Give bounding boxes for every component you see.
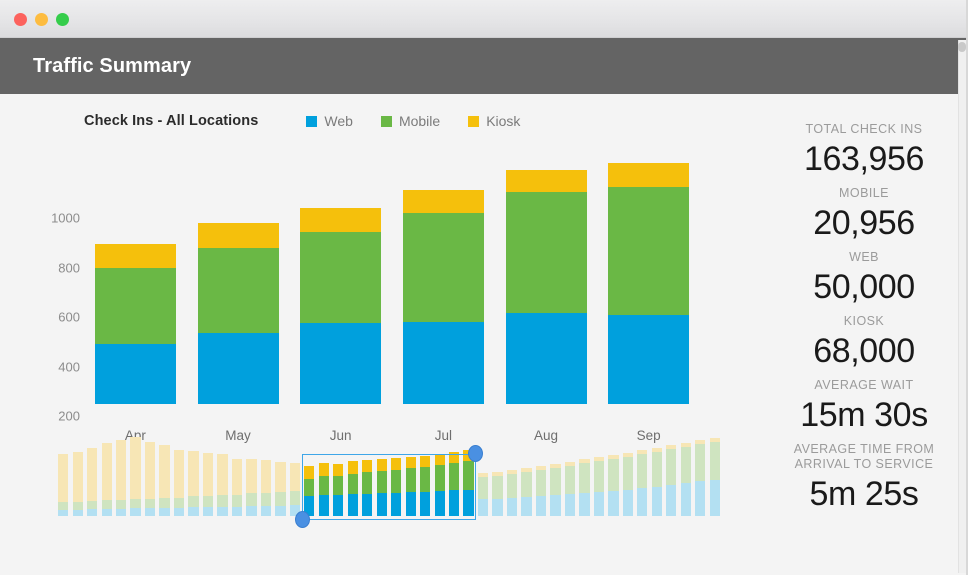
bar-segment-web[interactable] [198,333,279,404]
navigator-bar[interactable] [58,454,68,516]
y-axis: 02004006008001000 [48,156,80,466]
navigator-bar[interactable] [261,460,271,516]
navigator-segment-kiosk [391,458,401,470]
navigator-segment-web [681,483,691,516]
navigator-bar[interactable] [608,455,618,516]
y-axis-tick-label: 1000 [51,211,80,226]
stat-block: AVERAGE WAIT15m 30s [770,378,958,436]
navigator-segment-web [594,492,604,516]
navigator-segment-mobile [695,444,705,481]
stat-value: 50,000 [770,266,958,308]
navigator-segment-mobile [58,502,68,510]
navigator-segment-mobile [449,463,459,490]
navigator-segment-web [58,510,68,516]
navigator-segment-mobile [348,474,358,494]
navigator-segment-mobile [217,495,227,507]
bar-segment-mobile[interactable] [198,248,279,334]
navigator-bar[interactable] [319,463,329,516]
navigator-bar[interactable] [406,457,416,516]
navigator-segment-kiosk [304,466,314,479]
navigator-segment-web [478,499,488,516]
navigator-segment-web [550,495,560,516]
chart-legend: WebMobileKiosk [306,113,520,129]
navigator-segment-mobile [435,465,445,491]
navigator-segment-kiosk [232,459,242,495]
navigator-segment-web [217,507,227,516]
legend-swatch-web-icon [306,116,317,127]
chart-header: Check Ins - All Locations WebMobileKiosk [84,110,724,132]
navigator-segment-web [116,509,126,516]
stat-label: WEB [770,250,958,265]
navigator-segment-web [188,507,198,516]
bar-segment-mobile[interactable] [403,213,484,322]
navigator-segment-web [130,508,140,516]
navigator-segment-web [102,509,112,516]
navigator-segment-kiosk [87,448,97,501]
stat-label: KIOSK [770,314,958,329]
navigator-segment-mobile [594,461,604,492]
navigator-bar[interactable] [666,445,676,516]
navigator-segment-mobile [637,454,647,488]
navigator-segment-kiosk [159,445,169,498]
bar-segment-web[interactable] [608,315,689,404]
navigator-segment-web [377,493,387,516]
navigator-segment-kiosk [319,463,329,476]
navigator-segment-mobile [681,447,691,483]
bar-segment-kiosk[interactable] [300,208,381,232]
legend-label: Web [324,113,353,129]
navigator-segment-kiosk [449,452,459,463]
x-axis-label: Aug [495,428,598,443]
stat-value: 163,956 [770,138,958,180]
navigator-segment-web [695,481,705,516]
bar-series-container [84,156,700,404]
navigator-bar[interactable] [130,437,140,516]
stat-block: MOBILE20,956 [770,186,958,244]
navigator-segment-mobile [203,496,213,507]
minimize-button-icon[interactable] [35,13,48,26]
legend-swatch-mobile-icon [381,116,392,127]
stat-value: 15m 30s [770,394,958,436]
legend-item-kiosk[interactable]: Kiosk [468,113,520,129]
bar-segment-kiosk[interactable] [198,223,279,248]
bar-segment-web[interactable] [300,323,381,404]
navigator-segment-web [565,494,575,516]
navigator-bar[interactable] [681,443,691,516]
navigator-segment-mobile [145,499,155,508]
navigator-bar[interactable] [246,459,256,516]
stat-block: KIOSK68,000 [770,314,958,372]
navigator-segment-mobile [550,468,560,495]
navigator-bar[interactable] [492,472,502,516]
navigator-segment-kiosk [362,460,372,472]
navigator-segment-kiosk [348,461,358,474]
navigator-bar[interactable] [304,466,314,516]
y-axis-tick-label: 200 [58,409,80,424]
legend-swatch-kiosk-icon [468,116,479,127]
navigator-segment-kiosk [130,437,140,499]
chart-panel: Check Ins - All Locations WebMobileKiosk… [0,94,770,575]
navigator-bar[interactable] [710,438,720,516]
legend-label: Mobile [399,113,440,129]
navigator-segment-mobile [159,498,169,508]
bar-segment-web[interactable] [506,313,587,404]
legend-item-mobile[interactable]: Mobile [381,113,440,129]
bar-column-jul[interactable] [403,190,484,404]
navigator-segment-web [666,485,676,516]
stat-label: TOTAL CHECK INS [770,122,958,137]
navigator-segment-mobile [102,500,112,509]
x-axis-label: Jun [289,428,392,443]
navigator-bars [56,456,722,516]
navigator-segment-kiosk [377,459,387,471]
navigator-segment-kiosk [290,463,300,491]
window-controls [14,13,69,26]
navigator-segment-kiosk [73,452,83,502]
navigator-bar[interactable] [159,445,169,516]
navigator-segment-mobile [406,468,416,492]
navigator-segment-web [507,498,517,516]
navigator-bar[interactable] [362,460,372,516]
navigator-segment-mobile [710,442,720,480]
navigator-segment-web [261,506,271,516]
navigator-segment-mobile [579,463,589,493]
navigator-segment-mobile [652,452,662,487]
x-axis-label: May [187,428,290,443]
navigator-segment-mobile [261,493,271,506]
window-titlebar[interactable] [0,0,968,38]
navigator-segment-web [710,480,720,516]
dashboard-body: Check Ins - All Locations WebMobileKiosk… [0,94,968,575]
navigator-segment-web [463,490,473,516]
x-axis-label: Sep [597,428,700,443]
navigator-bar[interactable] [333,464,343,516]
navigator-bar[interactable] [435,454,445,516]
stat-value: 68,000 [770,330,958,372]
stat-label: AVERAGE TIME FROM ARRIVAL TO SERVICE [770,442,958,472]
navigator-bar[interactable] [87,448,97,516]
navigator-segment-mobile [174,498,184,508]
maximize-button-icon[interactable] [56,13,69,26]
app-window: Traffic Summary Check Ins - All Location… [0,0,968,575]
x-axis-label: Jul [392,428,495,443]
navigator-segment-web [174,508,184,516]
navigator-segment-kiosk [174,450,184,498]
navigator-bar[interactable] [232,459,242,516]
navigator-segment-mobile [319,476,329,495]
vertical-scrollbar-thumb[interactable] [958,42,966,52]
navigator-segment-mobile [565,466,575,494]
navigator-segment-kiosk [203,453,213,496]
navigator-bar[interactable] [695,440,705,516]
navigator-bar[interactable] [174,450,184,516]
navigator-bar[interactable] [420,456,430,516]
navigator-segment-web [579,493,589,516]
stat-value: 20,956 [770,202,958,244]
navigator-segment-web [87,509,97,516]
navigator-segment-mobile [420,467,430,492]
range-navigator[interactable] [56,444,722,534]
bar-column-aug[interactable] [506,170,587,404]
navigator-segment-web [203,507,213,516]
bar-segment-kiosk[interactable] [506,170,587,192]
navigator-bar[interactable] [449,452,459,516]
navigator-segment-web [652,487,662,516]
navigator-segment-mobile [188,496,198,507]
navigator-bar[interactable] [579,459,589,516]
navigator-bar[interactable] [275,462,285,516]
chart-plot-area: 02004006008001000 AprMayJunJulAugSep [84,156,700,466]
stats-panel: TOTAL CHECK INS163,956MOBILE20,956WEB50,… [770,94,958,575]
navigator-segment-web [391,493,401,516]
navigator-segment-mobile [478,477,488,499]
navigator-segment-web [319,495,329,516]
navigator-segment-kiosk [188,451,198,496]
navigator-segment-kiosk [435,454,445,465]
navigator-segment-mobile [608,459,618,491]
bar-segment-kiosk[interactable] [95,244,176,268]
navigator-segment-kiosk [246,459,256,493]
navigator-segment-web [637,488,647,516]
navigator-segment-mobile [275,492,285,506]
navigator-bar[interactable] [478,473,488,516]
navigator-segment-mobile [463,461,473,490]
navigator-segment-mobile [130,499,140,508]
navigator-segment-mobile [492,476,502,499]
navigator-segment-web [145,508,155,516]
app-header: Traffic Summary [0,38,968,94]
navigator-segment-kiosk [58,454,68,502]
navigator-segment-web [362,494,372,516]
navigator-bar[interactable] [116,440,126,516]
navigator-segment-mobile [536,470,546,496]
navigator-bar[interactable] [348,461,358,516]
navigator-segment-web [73,510,83,516]
navigator-bar[interactable] [73,452,83,516]
navigator-segment-mobile [507,474,517,498]
navigator-segment-web [492,499,502,516]
navigator-segment-web [232,507,242,516]
navigator-segment-kiosk [145,442,155,499]
y-axis-tick-label: 800 [58,260,80,275]
navigator-segment-web [536,496,546,516]
y-axis-tick-label: 600 [58,310,80,325]
bar-column-sep[interactable] [608,163,689,404]
navigator-bar[interactable] [652,448,662,516]
legend-label: Kiosk [486,113,520,129]
navigator-segment-mobile [304,479,314,496]
y-axis-tick-label: 400 [58,359,80,374]
navigator-segment-mobile [377,471,387,493]
navigator-bar[interactable] [391,458,401,516]
navigator-bar[interactable] [536,466,546,516]
navigator-segment-web [623,490,633,516]
stat-block: AVERAGE TIME FROM ARRIVAL TO SERVICE5m 2… [770,442,958,515]
navigator-segment-mobile [232,495,242,507]
navigator-segment-web [348,494,358,516]
navigator-bar[interactable] [565,462,575,516]
navigator-handle-left[interactable] [295,511,310,528]
navigator-bar[interactable] [594,457,604,516]
navigator-bar[interactable] [637,450,647,516]
navigator-segment-mobile [246,493,256,506]
navigator-segment-kiosk [102,443,112,500]
navigator-segment-mobile [623,457,633,490]
bar-segment-mobile[interactable] [506,192,587,314]
navigator-segment-web [275,506,285,516]
navigator-bar[interactable] [507,470,517,516]
navigator-segment-mobile [73,502,83,510]
stat-value: 5m 25s [770,473,958,515]
vertical-scrollbar-track[interactable] [958,40,966,573]
navigator-segment-web [521,497,531,516]
navigator-bar[interactable] [290,463,300,516]
navigator-segment-web [159,508,169,516]
bar-column-apr[interactable] [95,244,176,404]
navigator-segment-web [406,492,416,516]
navigator-bar[interactable] [203,453,213,516]
stat-block: WEB50,000 [770,250,958,308]
close-button-icon[interactable] [14,13,27,26]
bar-segment-mobile[interactable] [300,232,381,324]
stat-label: MOBILE [770,186,958,201]
navigator-segment-mobile [362,472,372,494]
bar-column-may[interactable] [198,223,279,404]
navigator-segment-web [246,506,256,516]
navigator-segment-kiosk [261,460,271,493]
navigator-segment-web [420,492,430,516]
bar-segment-web[interactable] [95,344,176,404]
bar-segment-mobile[interactable] [95,268,176,345]
navigator-bar[interactable] [188,451,198,516]
navigator-segment-mobile [333,476,343,495]
legend-item-web[interactable]: Web [306,113,353,129]
navigator-segment-kiosk [406,457,416,468]
navigator-bar[interactable] [550,464,560,516]
bar-segment-web[interactable] [403,322,484,404]
stat-block: TOTAL CHECK INS163,956 [770,122,958,180]
navigator-segment-web [435,491,445,516]
navigator-segment-kiosk [275,462,285,492]
navigator-segment-mobile [290,491,300,505]
navigator-bar[interactable] [623,453,633,516]
navigator-segment-kiosk [420,456,430,467]
navigator-bar[interactable] [145,442,155,516]
stat-label: AVERAGE WAIT [770,378,958,393]
navigator-segment-mobile [666,449,676,485]
navigator-segment-mobile [521,472,531,497]
navigator-bar[interactable] [102,443,112,516]
page-title: Traffic Summary [33,55,191,78]
navigator-bar[interactable] [217,454,227,516]
navigator-segment-web [449,490,459,516]
bar-segment-kiosk[interactable] [403,190,484,214]
navigator-bar[interactable] [521,468,531,516]
navigator-segment-mobile [87,501,97,509]
navigator-segment-kiosk [116,440,126,500]
navigator-segment-kiosk [333,464,343,476]
navigator-segment-web [333,495,343,516]
navigator-segment-kiosk [217,454,227,495]
bar-segment-kiosk[interactable] [608,163,689,187]
chart-title: Check Ins - All Locations [84,113,258,129]
bar-column-jun[interactable] [300,208,381,404]
navigator-bar[interactable] [377,459,387,516]
navigator-segment-mobile [391,470,401,493]
navigator-segment-mobile [116,500,126,509]
bar-segment-mobile[interactable] [608,187,689,315]
navigator-segment-web [608,491,618,516]
